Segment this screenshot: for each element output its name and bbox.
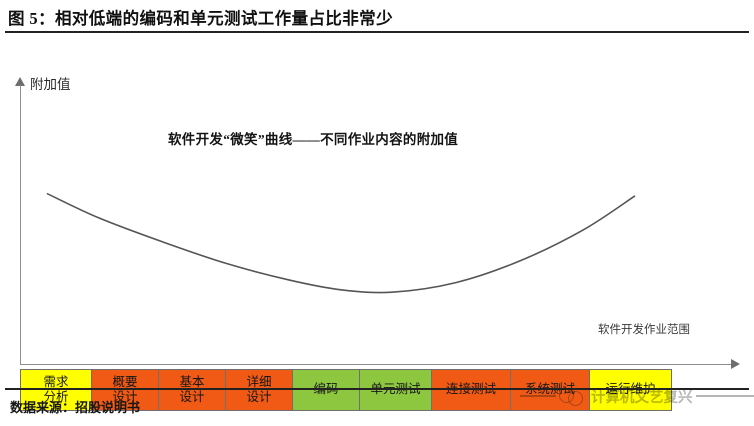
figure-title: 图 5：相对低端的编码和单元测试工作量占比非常少 [8,4,746,30]
stage-cell[interactable]: 连接测试 [431,369,511,411]
x-axis-line [20,364,733,365]
stage-cell[interactable]: 系统测试 [510,369,590,411]
y-axis-line [20,85,21,365]
source-note: 数据来源：招股说明书 [10,397,140,416]
chart-area: 附加值 软件开发作业范围 软件开发“微笑”曲线——不同作业内容的附加值 需求 分… [0,33,754,385]
x-axis-label: 软件开发作业范围 [598,321,690,337]
x-axis-arrow-icon [731,359,740,369]
stage-cell[interactable]: 详细 设计 [225,369,293,411]
stage-cell[interactable]: 单元测试 [359,369,432,411]
stage-cell[interactable]: 基本 设计 [158,369,226,411]
stage-cell[interactable]: 编码 [292,369,360,411]
y-axis-label: 附加值 [30,73,71,93]
footer-divider [5,388,749,390]
chart-headline: 软件开发“微笑”曲线——不同作业内容的附加值 [168,128,458,148]
stage-cell[interactable]: 运行维护 [589,369,672,411]
watermark-rule-right [696,395,754,397]
